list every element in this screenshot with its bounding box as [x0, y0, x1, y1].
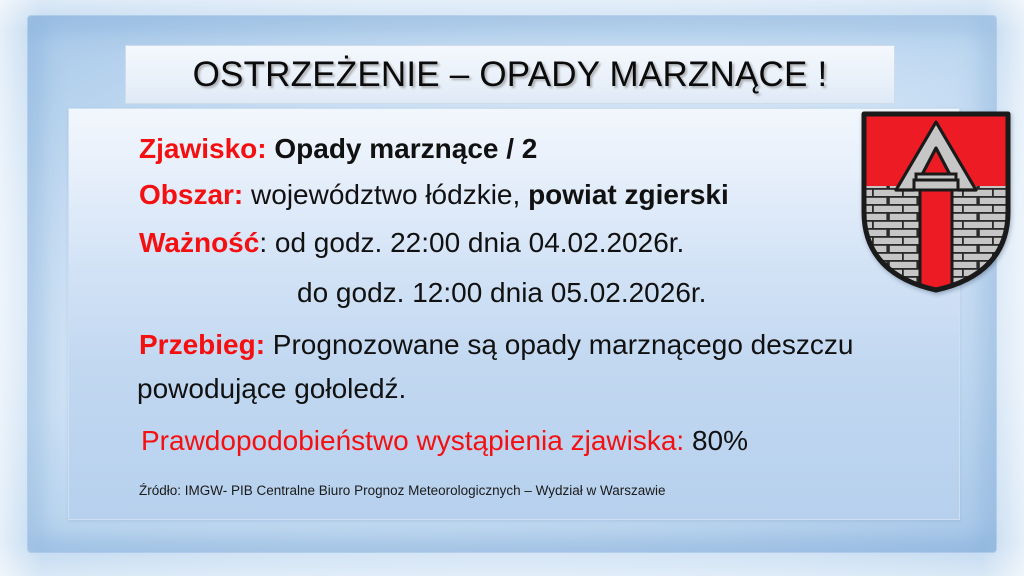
- area-label: Obszar:: [139, 179, 243, 210]
- row-course-cont: powodujące gołoledź.: [137, 375, 1024, 403]
- area-value: województwo łódzkie,: [243, 179, 528, 210]
- warning-content-panel: Zjawisko: Opady marznące / 2 Obszar: woj…: [68, 108, 960, 520]
- course-value-line2: powodujące gołoledź.: [137, 373, 406, 404]
- probability-value: 80%: [692, 425, 748, 456]
- course-value-line1: Prognozowane są opady marznącego deszczu: [265, 329, 853, 360]
- row-course: Przebieg: Prognozowane są opady marznące…: [139, 331, 1024, 359]
- course-label: Przebieg:: [139, 329, 265, 360]
- phenomenon-value: Opady marznące / 2: [267, 133, 538, 164]
- validity-to-value: do godz. 12:00 dnia 05.02.2026r.: [297, 277, 706, 308]
- area-value-county: powiat zgierski: [528, 179, 729, 210]
- validity-label: Ważność: [139, 227, 259, 258]
- phenomenon-label: Zjawisko:: [139, 133, 267, 164]
- validity-from-value: : od godz. 22:00 dnia 04.02.2026r.: [259, 227, 684, 258]
- source-note: Źródło: IMGW- PIB Centralne Biuro Progno…: [139, 483, 666, 498]
- row-probability: Prawdopodobieństwo wystąpienia zjawiska:…: [141, 427, 1024, 455]
- coat-of-arms-icon: [858, 108, 1014, 296]
- warning-slide: OSTRZEŻENIE – OPADY MARZNĄCE ! Zjawisko:…: [0, 0, 1024, 576]
- page-title: OSTRZEŻENIE – OPADY MARZNĄCE !: [193, 55, 828, 95]
- title-banner: OSTRZEŻENIE – OPADY MARZNĄCE !: [125, 45, 895, 104]
- probability-label: Prawdopodobieństwo wystąpienia zjawiska:: [141, 425, 692, 456]
